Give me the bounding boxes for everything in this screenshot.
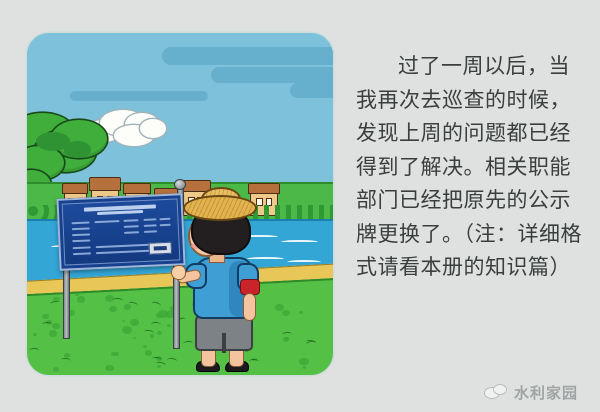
house-roof bbox=[89, 177, 121, 190]
grass-speck bbox=[49, 330, 57, 336]
grass-speck bbox=[156, 313, 162, 318]
grass-speck bbox=[114, 352, 119, 356]
board-text-line bbox=[144, 224, 158, 227]
board-text-line bbox=[159, 224, 170, 227]
page-root: 过了一周以后，当我再次去巡查的时候，发现上周的问题都已经得到了解决。相关职能部门… bbox=[0, 0, 600, 412]
boy-shorts-split bbox=[222, 333, 226, 353]
lamp-post-cap bbox=[174, 179, 186, 190]
board-text-line bbox=[96, 250, 151, 255]
grass-speck bbox=[33, 333, 37, 336]
grass-tuft bbox=[29, 348, 39, 353]
public-notice-board[interactable] bbox=[56, 193, 185, 271]
watermark-label: 水利家园 bbox=[514, 382, 578, 403]
board-text-line bbox=[72, 239, 90, 242]
board-stamp bbox=[149, 242, 172, 255]
grass-speck bbox=[105, 365, 113, 372]
grass-speck bbox=[145, 350, 152, 356]
boy-arm-right bbox=[243, 293, 256, 321]
board-text-line bbox=[159, 218, 170, 221]
grass-tuft bbox=[61, 357, 71, 363]
wechat-bubbles-icon bbox=[484, 384, 508, 402]
sky-cloud-band bbox=[290, 83, 333, 99]
watermark: 水利家园 bbox=[484, 382, 578, 403]
grass-speck bbox=[109, 306, 117, 312]
grass-speck bbox=[275, 304, 284, 311]
board-text-line bbox=[72, 227, 90, 230]
grass-speck bbox=[299, 311, 303, 314]
straw-hat-brim bbox=[183, 195, 257, 221]
boy-inspector-figure bbox=[177, 193, 269, 375]
grass-tuft bbox=[112, 298, 122, 304]
board-text-line bbox=[143, 218, 157, 221]
board-text-line bbox=[71, 221, 89, 224]
sky-cloud-band bbox=[211, 67, 333, 83]
grass-speck bbox=[77, 296, 86, 303]
grass-speck bbox=[52, 323, 59, 329]
board-text-line bbox=[124, 225, 139, 228]
grass-speck bbox=[122, 326, 132, 334]
board-inner-frame bbox=[62, 198, 181, 265]
board-text-line bbox=[144, 230, 158, 233]
grass-speck bbox=[64, 353, 70, 358]
house-roof bbox=[62, 183, 88, 194]
bubble-small bbox=[493, 384, 507, 395]
grass-speck bbox=[42, 314, 48, 319]
board-subtitle-line bbox=[97, 210, 143, 215]
cloud-puff bbox=[140, 119, 166, 137]
house-roof bbox=[123, 183, 151, 194]
sky-cloud-band bbox=[162, 47, 333, 65]
caption-block: 过了一周以后，当我再次去巡查的时候，发现上周的问题都已经得到了解决。相关职能部门… bbox=[356, 50, 588, 285]
board-text-line bbox=[94, 220, 119, 223]
grass-speck bbox=[130, 319, 138, 326]
grass-tuft bbox=[42, 321, 52, 326]
grass-speck bbox=[157, 331, 162, 335]
board-text-line bbox=[72, 233, 90, 236]
boy-hand-left bbox=[171, 265, 186, 280]
grass-speck bbox=[143, 345, 148, 349]
tree-shadow bbox=[64, 141, 92, 158]
grass-speck bbox=[303, 366, 306, 369]
grass-tuft bbox=[151, 322, 161, 327]
sky-cloud-band bbox=[70, 91, 208, 102]
board-text-line bbox=[73, 247, 91, 250]
illustration-panel bbox=[27, 33, 333, 375]
board-text-line bbox=[124, 231, 139, 234]
board-text-line bbox=[124, 219, 139, 222]
board-text-line bbox=[73, 253, 91, 256]
caption-paragraph: 过了一周以后，当我再次去巡查的时候，发现上周的问题都已经得到了解决。相关职能部门… bbox=[356, 50, 588, 285]
board-text-rows bbox=[63, 199, 177, 204]
